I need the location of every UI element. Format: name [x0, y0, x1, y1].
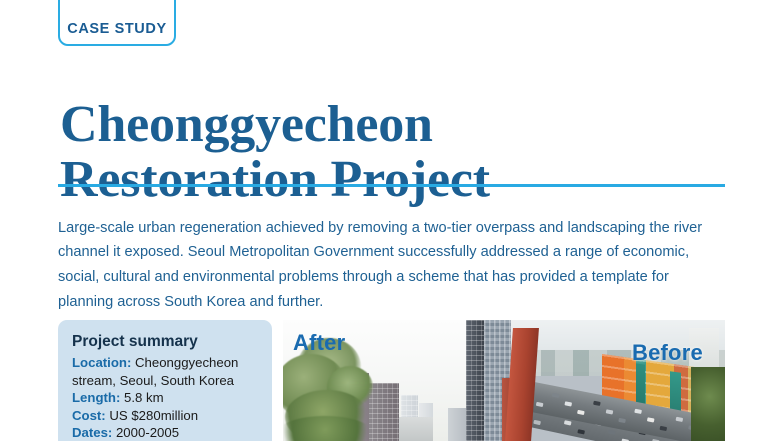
before-vehicle: [552, 393, 560, 398]
after-building-tall-2: [448, 408, 467, 441]
project-summary-card: Project summary Location: Cheonggyecheon…: [58, 320, 272, 441]
page-title: Cheonggyecheon Restoration Project: [60, 97, 740, 207]
summary-label-location: Location:: [72, 355, 131, 370]
before-vehicle: [634, 409, 642, 414]
before-vehicle: [659, 426, 667, 431]
before-vehicle: [564, 401, 572, 406]
title-divider: [58, 184, 725, 187]
summary-row-dates: Dates: 2000-2005: [72, 424, 258, 442]
before-vehicle: [618, 418, 626, 423]
summary-value-cost: US $280million: [106, 408, 198, 423]
before-vehicle: [647, 417, 655, 422]
before-vehicle: [577, 410, 585, 415]
case-study-badge: CASE STUDY: [58, 0, 176, 46]
summary-label-length: Length:: [72, 390, 120, 405]
before-vehicle: [606, 409, 614, 414]
project-summary-title: Project summary: [72, 332, 258, 351]
before-photo-panel: Before: [484, 320, 725, 441]
before-vehicle: [536, 402, 544, 407]
summary-label-cost: Cost:: [72, 408, 106, 423]
before-vehicle: [577, 429, 585, 434]
summary-value-length: 5.8 km: [120, 390, 163, 405]
before-vehicle: [608, 430, 616, 435]
summary-label-dates: Dates:: [72, 425, 112, 440]
before-label: Before: [632, 340, 703, 366]
case-study-badge-label: CASE STUDY: [67, 21, 166, 37]
before-roadside-tree: [691, 367, 725, 441]
intro-paragraph: Large-scale urban regeneration achieved …: [58, 216, 718, 315]
before-vehicle: [593, 401, 601, 406]
summary-row-location: Location: Cheonggyecheon stream, Seoul, …: [72, 354, 258, 389]
after-label: After: [293, 330, 345, 356]
before-vehicle: [533, 420, 541, 425]
after-building-tall: [466, 320, 484, 441]
summary-row-length: Length: 5.8 km: [72, 389, 258, 407]
before-vehicle: [676, 417, 684, 422]
after-photo-panel: After: [283, 320, 484, 441]
before-vehicle: [564, 420, 572, 425]
summary-row-cost: Cost: US $280million: [72, 407, 258, 425]
summary-value-dates: 2000-2005: [112, 425, 179, 440]
